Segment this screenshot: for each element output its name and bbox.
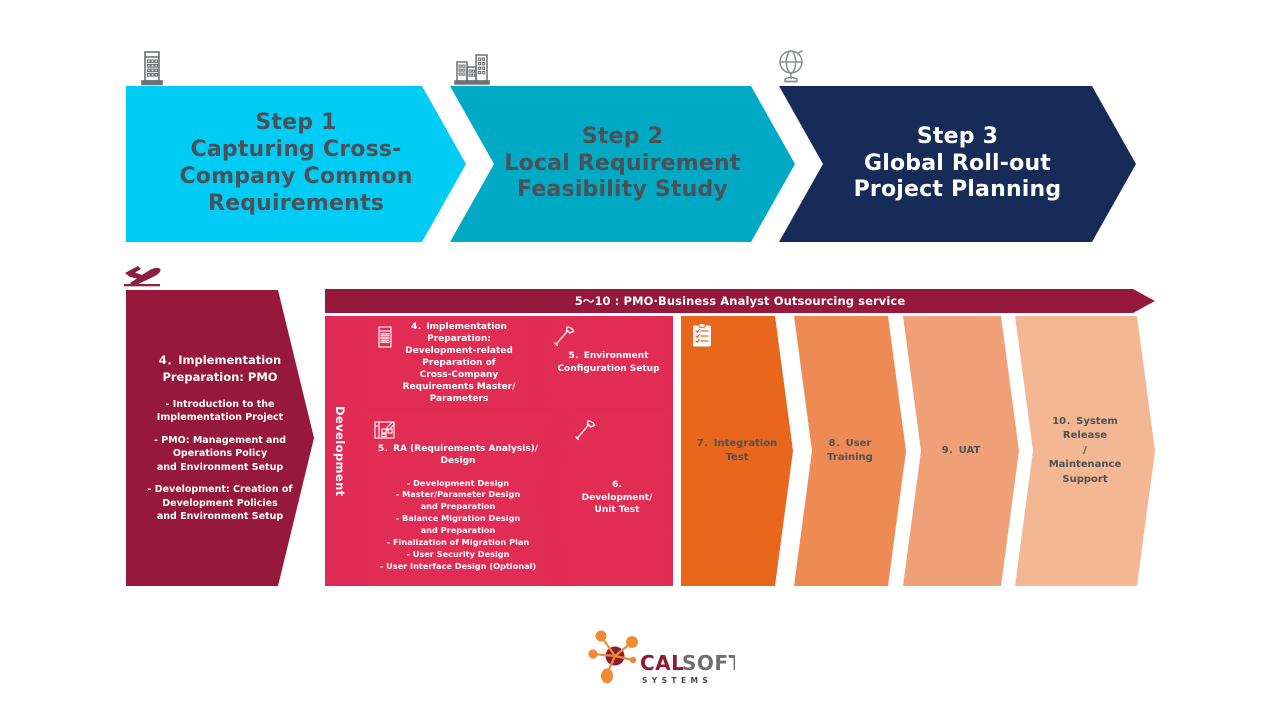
step-chevron-1[interactable]: Step 1 Capturing Cross- Company Common R… bbox=[126, 86, 466, 242]
step-3-label: Step 3 Global Roll-out Project Planning bbox=[840, 124, 1076, 204]
office-building-icon bbox=[372, 324, 398, 350]
development-card-unit-test[interactable]: 6. Development/ Unit Test bbox=[556, 412, 670, 584]
logo-mark bbox=[588, 631, 638, 684]
development-card-environment-setup[interactable]: 5．Environment Configuration Setup bbox=[539, 318, 670, 408]
step-chevron-2[interactable]: Step 2 Local Requirement Feasibility Stu… bbox=[450, 86, 795, 242]
blueprint-icon bbox=[372, 418, 398, 444]
logo-trademark: ™ bbox=[728, 655, 734, 662]
slide-canvas: Step 1 Capturing Cross- Company Common R… bbox=[0, 0, 1280, 720]
phase-chevron-integration-test[interactable]: 7．Integration Test bbox=[681, 316, 793, 586]
top-step-flow: Step 1 Capturing Cross- Company Common R… bbox=[126, 86, 1136, 242]
left-panel-title: 4．Implementation Preparation: PMO bbox=[134, 352, 306, 385]
office-building-icon bbox=[132, 48, 172, 88]
development-card-3-list: - Development Design - Master/Parameter … bbox=[380, 478, 536, 573]
development-label-text: Development bbox=[333, 406, 347, 497]
phase-2-label: 8．User Training bbox=[821, 437, 879, 466]
left-panel-bullet-1: - Introduction to the Implementation Pro… bbox=[157, 398, 283, 425]
development-vertical-label: Development bbox=[325, 316, 355, 586]
calsoft-systems-logo: CAL SOFT ™ SYSTEMS bbox=[585, 628, 725, 690]
step-2-label: Step 2 Local Requirement Feasibility Stu… bbox=[490, 124, 754, 204]
development-card-4-text: 6. Development/ Unit Test bbox=[582, 479, 653, 517]
phase-chevron-user-training[interactable]: 8．User Training bbox=[794, 316, 906, 586]
development-card-requirements-analysis[interactable]: 5．RA (Requirements Analysis)/ Design - D… bbox=[364, 412, 552, 584]
logo-word-cal: CAL bbox=[640, 651, 684, 675]
city-buildings-icon bbox=[452, 48, 492, 88]
phase-1-label: 7．Integration Test bbox=[691, 437, 783, 466]
phase-4-label: 10．System Release / Maintenance Support bbox=[1043, 415, 1128, 488]
implementation-preparation-pmo-panel[interactable]: 4．Implementation Preparation: PMO - Intr… bbox=[126, 290, 314, 586]
globe-icon bbox=[771, 46, 811, 86]
phase-3-label: 9．UAT bbox=[936, 444, 987, 459]
logo-subtitle: SYSTEMS bbox=[642, 676, 712, 685]
pmo-outsourcing-banner[interactable]: 5〜10 : PMO·Business Analyst Outsourcing … bbox=[325, 289, 1155, 313]
clipboard-checklist-icon bbox=[689, 322, 715, 348]
pmo-banner-label: 5〜10 : PMO·Business Analyst Outsourcing … bbox=[575, 293, 906, 309]
development-card-2-text: 5．Environment Configuration Setup bbox=[557, 350, 659, 375]
hammer-icon bbox=[572, 418, 598, 444]
left-panel-bullet-2: - PMO: Management and Operations Policy … bbox=[154, 434, 286, 474]
hammer-icon bbox=[551, 324, 577, 350]
left-panel-bullet-3: - Development: Creation of Development P… bbox=[147, 483, 292, 523]
phase-chevron-uat[interactable]: 9．UAT bbox=[903, 316, 1019, 586]
step-1-label: Step 1 Capturing Cross- Company Common R… bbox=[165, 110, 426, 217]
phase-chevron-system-release[interactable]: 10．System Release / Maintenance Support bbox=[1015, 316, 1155, 586]
step-chevron-3[interactable]: Step 3 Global Roll-out Project Planning bbox=[779, 86, 1136, 242]
development-card-implementation-prep[interactable]: 4．Implementation Preparation: Developmen… bbox=[364, 318, 532, 408]
development-card-3-text: 5．RA (Requirements Analysis)/ Design bbox=[378, 443, 538, 467]
airplane-takeoff-icon bbox=[122, 260, 168, 288]
development-card-1-text: 4．Implementation Preparation: Developmen… bbox=[403, 321, 516, 406]
